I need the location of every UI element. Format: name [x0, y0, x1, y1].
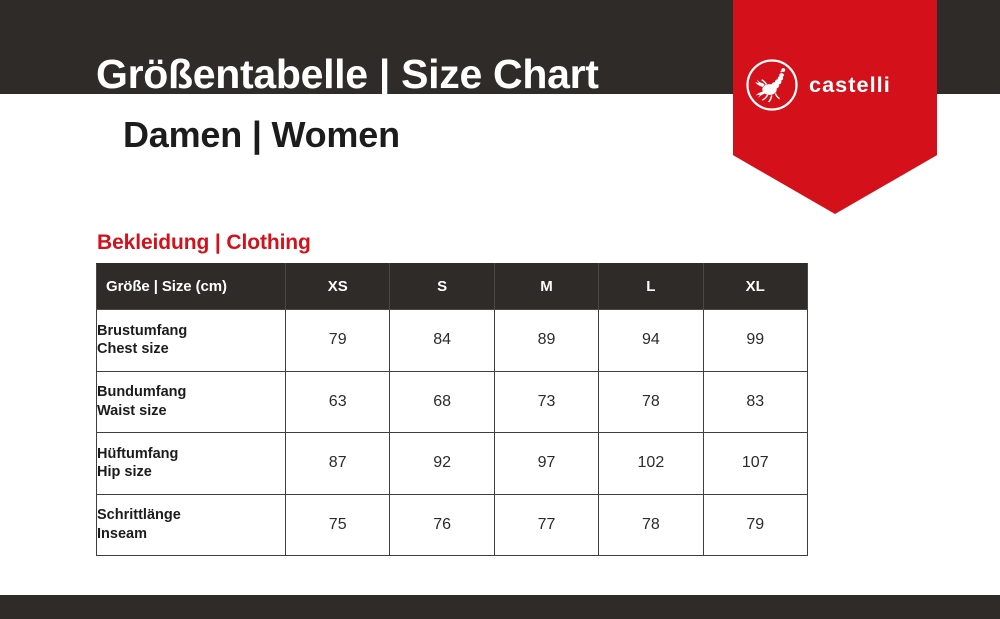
- cell-hip-l: 102: [599, 433, 703, 495]
- row-label-hip: Hüftumfang Hip size: [97, 433, 286, 495]
- row-label-de: Schrittlänge: [97, 506, 285, 525]
- cell-chest-xs: 79: [286, 310, 390, 372]
- column-header-measure: Größe | Size (cm): [97, 264, 286, 310]
- cell-inseam-s: 76: [390, 494, 494, 556]
- page-subtitle: Damen | Women: [123, 115, 400, 155]
- page-title: Größentabelle | Size Chart: [96, 52, 599, 96]
- row-label-en: Chest size: [97, 340, 285, 359]
- table-row: Brustumfang Chest size 79 84 89 94 99: [97, 310, 808, 372]
- cell-chest-xl: 99: [703, 310, 807, 372]
- size-chart-page: castelli Größentabelle | Size Chart Dame…: [0, 0, 1000, 619]
- cell-hip-xl: 107: [703, 433, 807, 495]
- column-header-l: L: [599, 264, 703, 310]
- column-header-s: S: [390, 264, 494, 310]
- cell-waist-l: 78: [599, 371, 703, 433]
- wordmark-text: castelli: [809, 72, 891, 97]
- table-header: Größe | Size (cm) XS S M L XL: [97, 264, 808, 310]
- column-header-m: M: [494, 264, 598, 310]
- row-label-de: Brustumfang: [97, 322, 285, 341]
- row-label-en: Hip size: [97, 463, 285, 482]
- row-label-chest: Brustumfang Chest size: [97, 310, 286, 372]
- row-label-en: Inseam: [97, 525, 285, 544]
- cell-chest-m: 89: [494, 310, 598, 372]
- scorpion-icon: [745, 58, 799, 112]
- cell-inseam-l: 78: [599, 494, 703, 556]
- footer-band: [0, 595, 1000, 619]
- row-label-inseam: Schrittlänge Inseam: [97, 494, 286, 556]
- cell-waist-xs: 63: [286, 371, 390, 433]
- cell-hip-xs: 87: [286, 433, 390, 495]
- table-body: Brustumfang Chest size 79 84 89 94 99 Bu…: [97, 310, 808, 556]
- castelli-logo: castelli: [745, 58, 931, 112]
- table-row: Schrittlänge Inseam 75 76 77 78 79: [97, 494, 808, 556]
- cell-waist-m: 73: [494, 371, 598, 433]
- cell-waist-xl: 83: [703, 371, 807, 433]
- cell-chest-l: 94: [599, 310, 703, 372]
- column-header-xl: XL: [703, 264, 807, 310]
- castelli-wordmark: castelli: [809, 72, 982, 98]
- table-row: Bundumfang Waist size 63 68 73 78 83: [97, 371, 808, 433]
- cell-hip-s: 92: [390, 433, 494, 495]
- table-header-row: Größe | Size (cm) XS S M L XL: [97, 264, 808, 310]
- cell-waist-s: 68: [390, 371, 494, 433]
- size-chart-table: Größe | Size (cm) XS S M L XL Brustumfan…: [96, 263, 808, 556]
- cell-inseam-xl: 79: [703, 494, 807, 556]
- row-label-de: Bundumfang: [97, 383, 285, 402]
- cell-hip-m: 97: [494, 433, 598, 495]
- row-label-de: Hüftumfang: [97, 445, 285, 464]
- column-header-xs: XS: [286, 264, 390, 310]
- cell-inseam-xs: 75: [286, 494, 390, 556]
- row-label-waist: Bundumfang Waist size: [97, 371, 286, 433]
- cell-inseam-m: 77: [494, 494, 598, 556]
- section-title: Bekleidung | Clothing: [97, 231, 311, 255]
- cell-chest-s: 84: [390, 310, 494, 372]
- table-row: Hüftumfang Hip size 87 92 97 102 107: [97, 433, 808, 495]
- row-label-en: Waist size: [97, 402, 285, 421]
